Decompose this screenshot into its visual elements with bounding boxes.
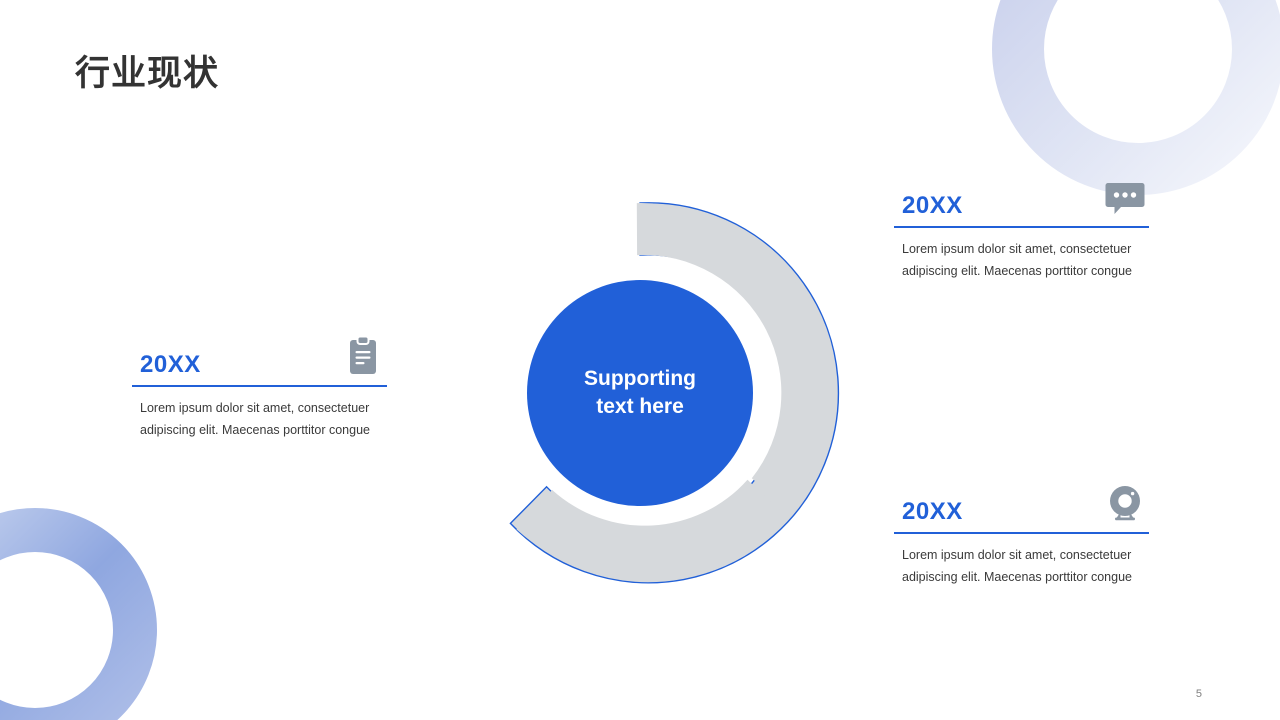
page-title: 行业现状: [75, 53, 219, 95]
panel-year-label: 20XX: [140, 351, 201, 379]
panel-body-text: Lorem ipsum dolor sit amet, consectetuer…: [132, 398, 389, 441]
panel-body-text: Lorem ipsum dolor sit amet, consectetuer…: [894, 545, 1151, 588]
panel-divider: [894, 226, 1149, 228]
webcam-icon: [1103, 482, 1147, 526]
decorative-ring-bottom-left: [0, 505, 160, 720]
info-panel-left[interactable]: 20XX Lorem ipsum dolor sit amet, consect…: [132, 333, 387, 441]
panel-divider: [894, 532, 1149, 534]
panel-year-label: 20XX: [902, 498, 963, 526]
info-panel-right-bottom[interactable]: 20XX Lorem ipsum dolor sit amet, consect…: [894, 480, 1149, 588]
panel-header: 20XX: [894, 174, 1149, 226]
donut-chart-svg: [440, 193, 840, 593]
panel-header: 20XX: [894, 480, 1149, 532]
page-number: 5: [1196, 688, 1202, 700]
speech-bubble-icon: [1103, 176, 1147, 220]
decorative-ring-top-right: [991, 0, 1280, 196]
panel-body-text: Lorem ipsum dolor sit amet, consectetuer…: [894, 239, 1151, 282]
clipboard-icon: [341, 335, 385, 379]
info-panel-right-top[interactable]: 20XX Lorem ipsum dolor sit amet, consect…: [894, 174, 1149, 282]
slide-canvas: 行业现状 Supporting text here 20XX: [0, 0, 1280, 720]
panel-header: 20XX: [132, 333, 387, 385]
panel-year-label: 20XX: [902, 192, 963, 220]
donut-center-circle[interactable]: [527, 280, 753, 506]
donut-chart: Supporting text here: [440, 193, 840, 593]
panel-divider: [132, 385, 387, 387]
